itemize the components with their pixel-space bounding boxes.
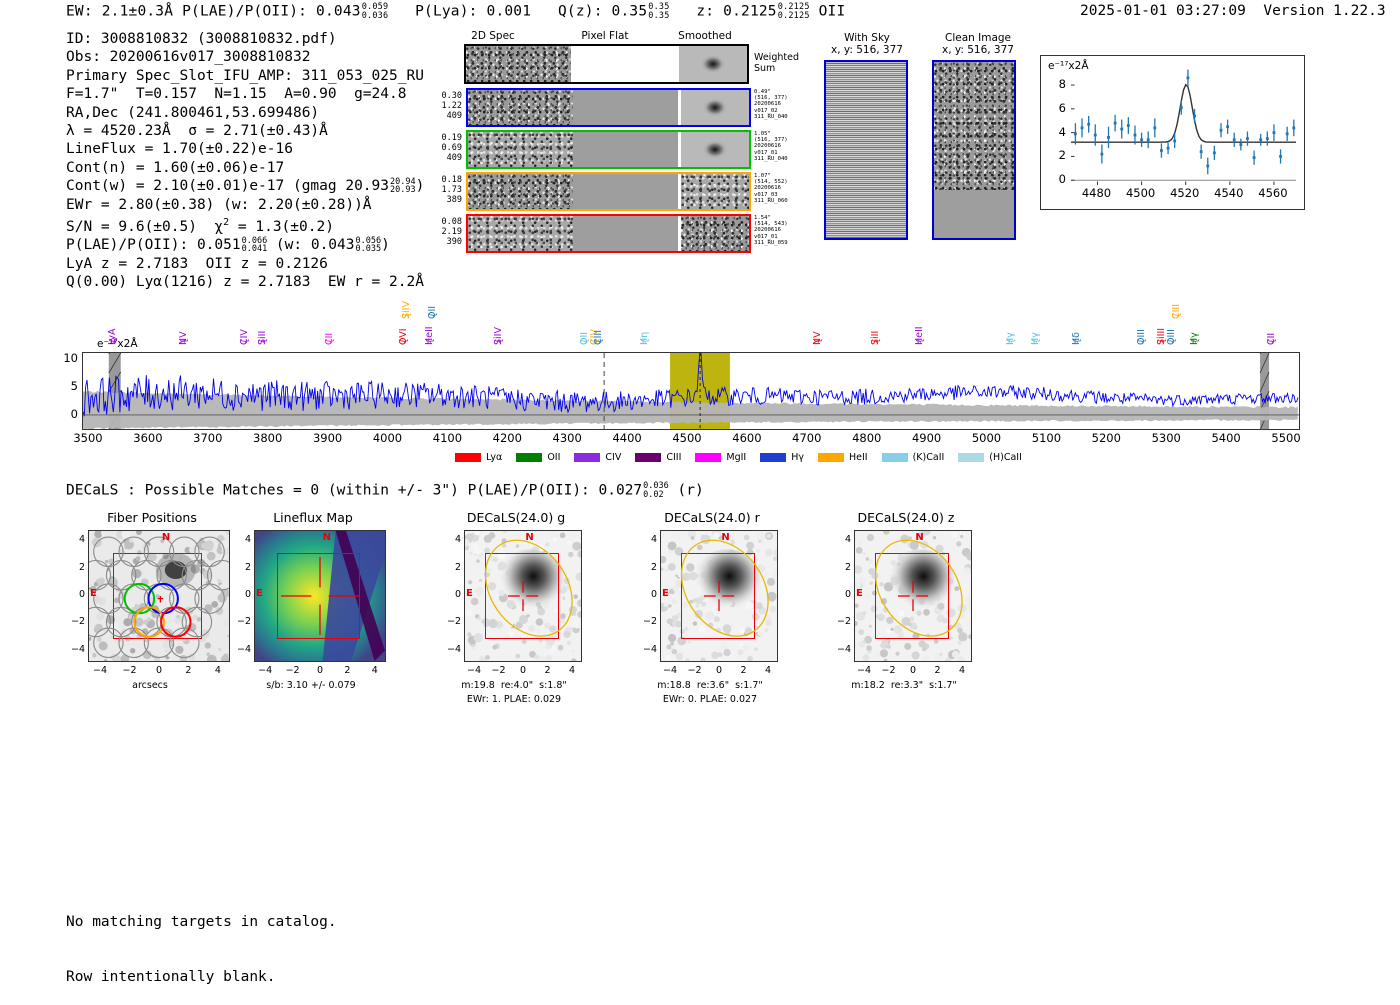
emission-line-label: Hδ [1071,332,1082,345]
cutout-x-tick: −2 [487,665,511,676]
legend-swatch [455,453,481,462]
plae-err-1: 0.0660.041 [242,237,268,254]
fiber-row-nums: 0.19 0.69 409 [430,133,462,163]
cutout-y-tick: −4 [231,644,251,655]
cutout-title: Lineflux Map [232,510,394,525]
fiber-2dspec [468,132,573,167]
emission-line-label: OVI [398,328,409,345]
footer-line-1: No matching targets in catalog. [66,913,337,931]
info-lambda: λ = 4520.23Å σ = 2.71(±0.43)Å [66,122,424,140]
legend-label: MgII [726,452,746,463]
main-x-tick: 3500 [66,431,110,445]
compass-east: E [466,588,473,599]
with-sky-title: With Sky x, y: 516, 377 [822,32,912,56]
cutout-y-tick: 0 [65,589,85,600]
cutout-x-tick: 2 [535,665,559,676]
cutout-x-tick: −2 [683,665,707,676]
emission-line-label: Hγ [1005,332,1016,345]
cutout-x-tick: −4 [253,665,277,676]
legend-label: CIII [666,452,681,463]
compass-east: E [662,588,669,599]
legend-swatch [958,453,984,462]
emission-line-label: Hγ [1189,332,1200,345]
main-x-tick: 5500 [1264,431,1308,445]
main-x-tick: 4600 [725,431,769,445]
emission-line-label: CIII [1171,304,1182,319]
main-x-tick: 3600 [126,431,170,445]
emission-line-label: Hγ [1030,332,1041,345]
legend-swatch [882,453,908,462]
main-x-tick: 5000 [965,431,1009,445]
cutout-x-tick: 4 [756,665,780,676]
emission-line-label: OIII [1136,329,1147,345]
cutout-y-tick: 2 [637,562,657,573]
compass-north: N [721,532,729,543]
cutout-y-tick: 2 [65,562,85,573]
weighted-sum-label: Weighted Sum [754,52,799,74]
cutout-x-tick: 2 [731,665,755,676]
info-lineflux: LineFlux = 1.70(±0.22)e-16 [66,140,424,158]
cutout-y-tick: 0 [637,589,657,600]
cutout-x-tick: 4 [363,665,387,676]
compass-north: N [915,532,923,543]
cutout-y-tick: −4 [441,644,461,655]
crosshair-marker [255,531,385,661]
cutout-y-tick: −4 [831,644,851,655]
cutout-caption: EWr: 0. PLAE: 0.027 [642,694,778,705]
fiber-smoothed [681,174,749,209]
fiber-row-nums: 0.18 1.73 389 [430,175,462,205]
info-ewr: EWr = 2.80(±0.38) (w: 2.20(±0.28))Å [66,196,424,214]
clean-image [932,60,1016,240]
fiber-row [466,130,751,169]
legend-label: Lyα [486,452,502,463]
cutout-y-tick: −4 [637,644,657,655]
cutout-y-tick: 2 [831,562,851,573]
clean-image-coords: x, y: 516, 377 [930,44,1026,56]
main-y-tick: 10 [56,351,78,365]
fiber-meta: 0.49" (516, 377) 20200616 v017_02 311_RU… [754,89,788,120]
cutout-x-tick: −4 [852,665,876,676]
zoom-y-tick: 8 [1050,77,1066,91]
zoom-plot-units: e⁻¹⁷x2Å [1048,60,1089,72]
cutout-x-tick: −2 [877,665,901,676]
cutout-x-tick: 4 [560,665,584,676]
info-cont-n: Cont(n) = 1.60(±0.06)e-17 [66,159,424,177]
cutout-y-tick: 4 [441,534,461,545]
main-x-tick: 3900 [306,431,350,445]
zoom-y-tick: 6 [1050,101,1066,115]
fiber-pixelflat [573,216,678,251]
cutout-x-tick: 0 [147,665,171,676]
cutout-x-tick: −4 [658,665,682,676]
version-label: Version 1.22.3 [1263,3,1385,19]
cutout-x-tick: 4 [950,665,974,676]
decals-header-tail: (r) [678,483,704,499]
cutout-title: Fiber Positions [66,510,238,525]
with-sky-image [824,60,908,240]
ellipse-aperture [661,531,777,661]
legend-label: HeII [849,452,868,463]
emission-line-label: OII [427,306,438,319]
decals-header: DECaLS : Possible Matches = 0 (within +/… [66,482,704,499]
fiber-meta: 1.05" (516, 377) 20200616 v017_01 311_RU… [754,131,788,162]
header-qz: Q(z): 0.35 [558,4,647,20]
cutout-y-tick: 2 [231,562,251,573]
info-cont-w: Cont(w) = 2.10(±0.01)e-17 (gmag 20.9320.… [66,177,424,195]
with-sky-label: With Sky [822,32,912,44]
main-x-tick: 4300 [545,431,589,445]
weighted-sum-smoothed [679,46,747,82]
fiber-circles [89,531,229,661]
cutout-image[interactable] [254,530,386,662]
footer-note: No matching targets in catalog. Row inte… [66,876,337,1005]
main-x-tick: 4900 [905,431,949,445]
main-x-tick: 5300 [1144,431,1188,445]
legend-label: (H)CaII [989,452,1022,463]
cutout-y-tick: −2 [231,616,251,627]
header-timestamp-version: 2025-01-01 03:27:09 Version 1.22.3 [1080,3,1386,19]
qz-errorbars: 0.350.35 [648,3,669,20]
ellipse-aperture [465,531,581,661]
fiber-row [466,172,751,211]
emission-line-label: CII [1266,333,1277,345]
info-id: ID: 3008810832 (3008810832.pdf) [66,30,424,48]
info-radec: RA,Dec (241.800461,53.699486) [66,104,424,122]
main-x-tick: 3700 [186,431,230,445]
legend-label: (K)CaII [913,452,945,463]
weighted-sum-strip [464,44,749,84]
cutout-x-tick: 2 [335,665,359,676]
emission-line-label: SiII [257,331,268,345]
panel-title-smoothed: Smoothed [660,30,750,42]
emission-line-label: HeII [424,326,435,345]
ellipse-aperture [855,531,971,661]
fiber-pixelflat [573,174,678,209]
emission-line-label: NV [178,331,189,345]
fiber-smoothed [681,90,749,125]
spectrum-legend: LyαOIICIVCIIIMgIIHγHeII(K)CaII(H)CaII [455,447,1036,466]
zoom-y-tick: 2 [1050,148,1066,162]
cutout-x-tick: −4 [88,665,112,676]
decals-header-text: DECaLS : Possible Matches = 0 (within +/… [66,483,642,499]
fiber-row-nums: 0.30 1.22 409 [430,91,462,121]
full-spectrum-svg [83,353,1299,429]
legend-swatch [695,453,721,462]
legend-label: CIV [605,452,621,463]
decals-plae-errorbars: 0.0360.02 [643,482,669,499]
cutout-y-tick: 4 [831,534,851,545]
emission-line-label: CIV [239,329,250,345]
compass-east: E [256,588,263,599]
cutout-x-tick: 2 [176,665,200,676]
main-x-tick: 5400 [1204,431,1248,445]
main-x-tick: 4200 [485,431,529,445]
cutout-y-tick: 4 [231,534,251,545]
cutout-x-tick: 4 [206,665,230,676]
fiber-2dspec [468,174,573,209]
info-plae: P(LAE)/P(OII): 0.0510.0660.041 (w: 0.043… [66,236,424,254]
fiber-pixelflat [573,132,678,167]
z-errorbars: 0.21250.2125 [778,3,810,20]
cutout-x-tick: 0 [308,665,332,676]
cutout-y-tick: 0 [231,589,251,600]
cutout-image[interactable] [464,530,582,662]
emission-line-label: SiII [870,331,881,345]
legend-swatch [818,453,844,462]
legend-label: OII [547,452,560,463]
emission-line-label: NV [812,331,823,345]
header-z-species: OII [819,4,846,20]
timestamp: 2025-01-01 03:27:09 [1080,3,1246,19]
fiber-row-nums: 0.08 2.19 390 [430,217,462,247]
fiber-smoothed [681,132,749,167]
main-y-tick: 0 [56,407,78,421]
main-x-tick: 3800 [246,431,290,445]
detection-info-block: ID: 3008810832 (3008810832.pdf) Obs: 202… [66,30,424,292]
cutout-y-tick: 0 [441,589,461,600]
emission-line-label: HeII [914,326,925,345]
panel-title-2dspec: 2D Spec [448,30,538,42]
info-classification: Q(0.00) Lyα(1216) z = 2.7183 EW r = 2.2Å [66,273,424,291]
cutout-image[interactable] [88,530,230,662]
emission-line-label: CII [324,333,335,345]
fiber-meta: 1.54" (514, 543) 20200616 v017_01 311_RU… [754,215,788,246]
header-ew-plae: EW: 2.1±0.3Å P(LAE)/P(OII): 0.043 [66,4,361,20]
weighted-sum-pixelflat [571,46,676,82]
info-specslot: Primary Spec_Slot_IFU_AMP: 311_053_025_R… [66,67,424,85]
cutout-x-tick: 0 [901,665,925,676]
cutout-caption: m:18.8 re:3.6" s:1.7" [642,680,778,691]
zoom-x-tick: 4500 [1124,186,1158,200]
cutout-caption: s/b: 3.10 +/- 0.079 [236,680,386,691]
header-plya: P(Lya): 0.001 [415,4,531,20]
emission-line-label: LyA [107,328,118,345]
fiber-rows: 0.30 1.22 409 0.49" (516, 377) 20200616 … [430,88,770,254]
info-seeing: F=1.7" T=0.157 N=1.15 A=0.90 g=24.8 [66,85,424,103]
cutout-y-tick: −4 [65,644,85,655]
cutout-y-tick: −2 [637,616,657,627]
legend-swatch [516,453,542,462]
cutout-x-tick: −4 [462,665,486,676]
emission-line-label: OIII [1166,329,1177,345]
emission-line-label: CIII [593,330,604,345]
fiber-2dspec [468,216,573,251]
cutout-caption: EWr: 1. PLAE: 0.029 [446,694,582,705]
cutout-y-tick: −2 [831,616,851,627]
fiber-row [466,88,751,127]
main-x-tick: 4800 [845,431,889,445]
cutout-caption: m:19.8 re:4.0" s:1.8" [446,680,582,691]
main-x-tick: 4100 [425,431,469,445]
compass-north: N [323,532,331,543]
legend-label: Hγ [791,452,804,463]
main-y-tick: 5 [56,379,78,393]
fiber-meta: 1.07" (514, 552) 20200616 v017_03 311_RU… [754,173,788,204]
cutout-x-tick: 0 [511,665,535,676]
compass-north: N [162,532,170,543]
zoom-x-tick: 4480 [1079,186,1113,200]
main-x-tick: 4400 [605,431,649,445]
zoom-x-tick: 4520 [1168,186,1202,200]
fiber-pixelflat [573,90,678,125]
cutout-y-tick: 0 [831,589,851,600]
cutout-y-tick: 4 [65,534,85,545]
cutout-x-tick: 0 [707,665,731,676]
compass-east: E [90,588,97,599]
compass-east: E [856,588,863,599]
main-x-tick: 4700 [785,431,829,445]
legend-swatch [760,453,786,462]
emission-line-label: SiIV [493,327,504,345]
clean-image-blank-region [934,190,1014,238]
cutout-x-tick: −2 [281,665,305,676]
cutout-title: DECaLS(24.0) g [442,510,590,525]
fiber-2dspec [468,90,573,125]
footer-line-2: Row intentionally blank. [66,968,337,986]
main-x-tick: 4000 [365,431,409,445]
zoom-y-tick: 4 [1050,125,1066,139]
info-sn-chi2: S/N = 9.6(±0.5) χ2 = 1.3(±0.2) [66,214,424,236]
header-z: z: 0.2125 [696,4,776,20]
zoom-y-tick: 0 [1050,172,1066,186]
zoom-x-tick: 4540 [1212,186,1246,200]
cutout-y-tick: −2 [441,616,461,627]
clean-image-title: Clean Image x, y: 516, 377 [930,32,1026,56]
cutout-y-tick: −2 [65,616,85,627]
full-spectrum-plot [82,352,1300,430]
emission-line-label: Hη [639,332,650,345]
header-summary-line: EW: 2.1±0.3Å P(LAE)/P(OII): 0.0430.0590.… [66,3,845,20]
cutout-image[interactable] [854,530,972,662]
cutout-caption: arcsecs [70,680,230,691]
zoom-x-tick: 4560 [1256,186,1290,200]
panel-title-pixelflat: Pixel Flat [560,30,650,42]
cutout-image[interactable] [660,530,778,662]
info-obs: Obs: 20200616v017_3008810832 [66,48,424,66]
cutout-y-tick: 2 [441,562,461,573]
plae-errorbars: 0.0590.036 [362,3,389,20]
weighted-sum-2dspec [466,46,571,82]
legend-swatch [574,453,600,462]
main-x-tick: 4500 [665,431,709,445]
compass-north: N [525,532,533,543]
fiber-row [466,214,751,253]
with-sky-coords: x, y: 516, 377 [822,44,912,56]
clean-image-label: Clean Image [930,32,1026,44]
gmag-errorbars: 20.9420.93 [390,178,416,195]
cutout-x-tick: −2 [118,665,142,676]
legend-swatch [635,453,661,462]
cutout-title: DECaLS(24.0) r [638,510,786,525]
main-x-tick: 5100 [1024,431,1068,445]
cutout-caption: m:18.2 re:3.3" s:1.7" [836,680,972,691]
plae-err-2: 0.0560.035 [356,237,382,254]
cutout-x-tick: 2 [925,665,949,676]
cutout-title: DECaLS(24.0) z [832,510,980,525]
info-redshifts: LyA z = 2.7183 OII z = 0.2126 [66,255,424,273]
emission-line-label: SiIV [401,301,412,319]
fiber-smoothed [681,216,749,251]
main-x-tick: 5200 [1084,431,1128,445]
cutout-y-tick: 4 [637,534,657,545]
